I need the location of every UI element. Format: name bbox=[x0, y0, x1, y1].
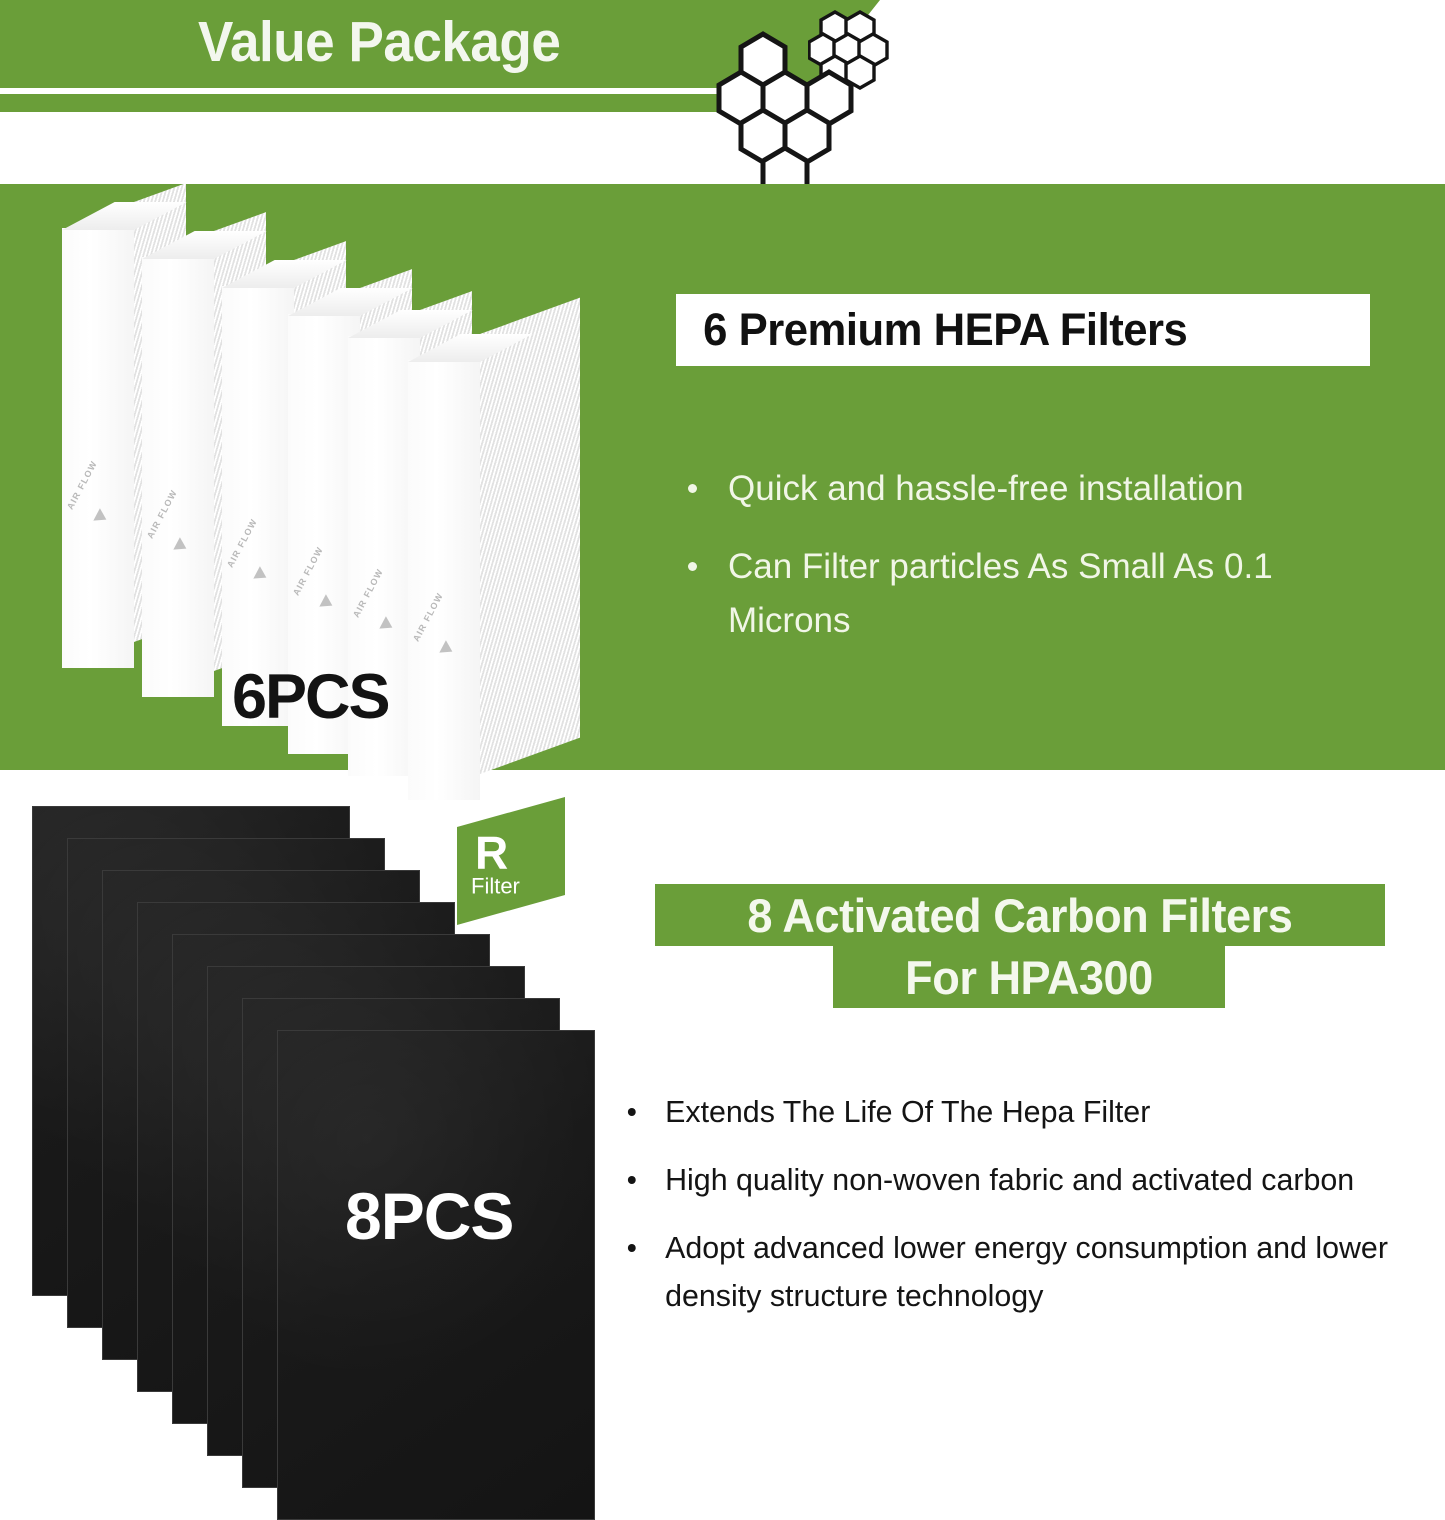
list-item: Can Filter particles As Small As 0.1 Mic… bbox=[682, 540, 1382, 648]
list-item-label: High quality non-woven fabric and activa… bbox=[665, 1162, 1354, 1197]
hepa-feature-list: Quick and hassle-free installation Can F… bbox=[682, 462, 1382, 672]
carbon-filter-product-image: 8PCS bbox=[0, 0, 640, 1430]
bullet-dot-icon bbox=[688, 562, 697, 571]
list-item-label: Can Filter particles As Small As 0.1 Mic… bbox=[728, 547, 1273, 640]
carbon-feature-list: Extends The Life Of The Hepa Filter High… bbox=[622, 1088, 1445, 1340]
list-item-label: Quick and hassle-free installation bbox=[728, 469, 1244, 508]
carbon-banner-primary-label: 8 Activated Carbon Filters bbox=[748, 888, 1293, 943]
carbon-banner-secondary-label: For HPA300 bbox=[905, 950, 1153, 1005]
carbon-banner-secondary: For HPA300 bbox=[833, 946, 1225, 1008]
list-item-label: Extends The Life Of The Hepa Filter bbox=[665, 1094, 1150, 1129]
list-item: High quality non-woven fabric and activa… bbox=[622, 1156, 1429, 1204]
list-item: Adopt advanced lower energy consumption … bbox=[622, 1224, 1429, 1320]
bullet-dot-icon bbox=[688, 484, 697, 493]
list-item-label: Adopt advanced lower energy consumption … bbox=[665, 1230, 1388, 1313]
list-item: Extends The Life Of The Hepa Filter bbox=[622, 1088, 1429, 1136]
carbon-quantity-badge: 8PCS bbox=[345, 1178, 513, 1254]
carbon-banner-primary: 8 Activated Carbon Filters bbox=[655, 884, 1385, 946]
hepa-title-box: 6 Premium HEPA Filters bbox=[676, 294, 1370, 366]
list-item: Quick and hassle-free installation bbox=[682, 462, 1382, 516]
honeycomb-large-icon bbox=[715, 28, 865, 188]
carbon-filter-sheet bbox=[277, 1030, 595, 1520]
hepa-title-text: 6 Premium HEPA Filters bbox=[676, 304, 1187, 356]
